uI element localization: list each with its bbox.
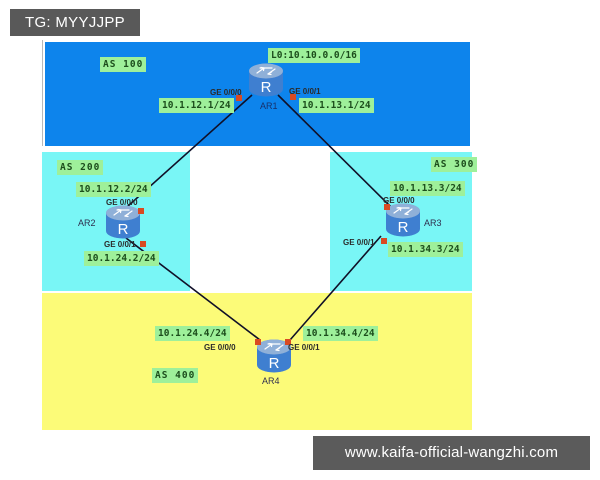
router-ar1[interactable]: R: [244, 61, 288, 101]
interface-port-ar1-ge000: GE 0/0/0: [210, 88, 242, 97]
router-label-ar1: AR1: [260, 101, 278, 111]
svg-text:R: R: [398, 219, 409, 236]
interface-port-ar4-ge001: GE 0/0/1: [288, 343, 320, 352]
url-banner: www.kaifa-official-wangzhi.com: [313, 436, 590, 470]
interface-port-ar2-ge001: GE 0/0/1: [104, 240, 136, 249]
router-label-ar4: AR4: [262, 376, 280, 386]
port-marker-ar3-ge001: [381, 238, 387, 244]
interface-address-ar2-ge001: 10.1.24.2/24: [84, 251, 159, 266]
svg-text:R: R: [269, 355, 280, 372]
port-marker-ar4-ge000: [255, 339, 261, 345]
interface-port-ar2-ge000: GE 0/0/0: [106, 198, 138, 207]
network-topology-diagram: AS 100 L0:10.10.0.0/16 R AR1 GE 0/0/0 10…: [0, 0, 600, 480]
as-label-as200: AS 200: [57, 160, 103, 175]
interface-address-ar2-ge000: 10.1.12.2/24: [76, 182, 151, 197]
router-label-ar3: AR3: [424, 218, 442, 228]
port-marker-ar2-ge000: [138, 208, 144, 214]
svg-text:R: R: [261, 79, 272, 96]
interface-address-ar4-ge000: 10.1.24.4/24: [155, 326, 230, 341]
interface-address-ar4-ge001: 10.1.34.4/24: [303, 326, 378, 341]
router-label-ar2: AR2: [78, 218, 96, 228]
interface-port-ar4-ge000: GE 0/0/0: [204, 343, 236, 352]
interface-port-ar3-ge001: GE 0/0/1: [343, 238, 375, 247]
svg-text:R: R: [118, 221, 129, 238]
port-marker-ar2-ge001: [140, 241, 146, 247]
as-label-as400: AS 400: [152, 368, 198, 383]
as-label-as300: AS 300: [431, 157, 477, 172]
canvas-left-rule: [42, 40, 43, 146]
as-label-as100: AS 100: [100, 57, 146, 72]
interface-address-ar3-ge001: 10.1.34.3/24: [388, 242, 463, 257]
loopback-label-ar1: L0:10.10.0.0/16: [268, 48, 360, 63]
interface-port-ar3-ge000: GE 0/0/0: [383, 196, 415, 205]
tg-banner: TG: MYYJJPP: [10, 9, 140, 36]
interface-address-ar3-ge000: 10.1.13.3/24: [390, 181, 465, 196]
interface-port-ar1-ge001: GE 0/0/1: [289, 87, 321, 96]
interface-address-ar1-ge001: 10.1.13.1/24: [299, 98, 374, 113]
interface-address-ar1-ge000: 10.1.12.1/24: [159, 98, 234, 113]
